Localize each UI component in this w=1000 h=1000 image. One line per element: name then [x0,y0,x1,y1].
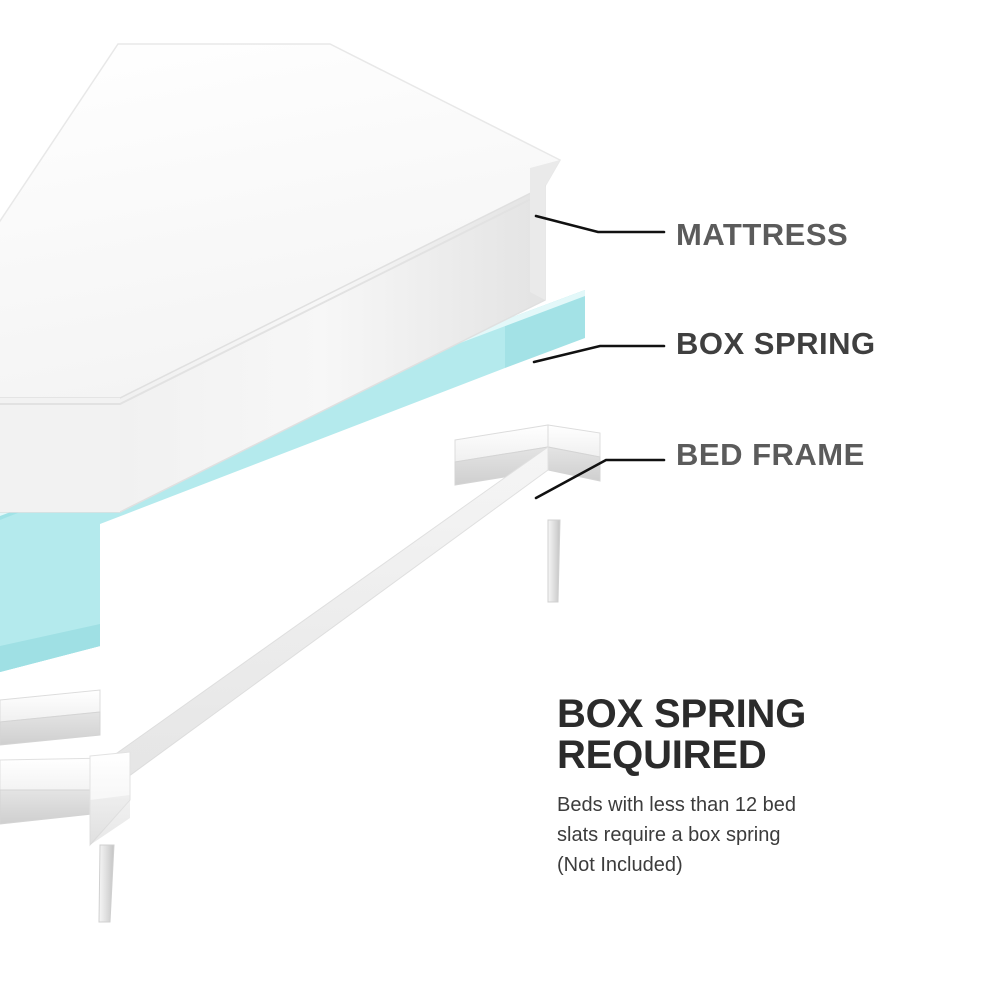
leader-line-mattress [536,216,664,232]
callout-body-line-3: (Not Included) [557,850,977,880]
label-box-spring: BOX SPRING [676,326,876,362]
box-spring-required-callout: BOX SPRING REQUIRED Beds with less than … [557,694,977,880]
label-bed-frame: BED FRAME [676,437,865,473]
callout-title: BOX SPRING REQUIRED [557,694,977,776]
callout-body: Beds with less than 12 bed slats require… [557,790,977,880]
callout-title-line-1: BOX SPRING [557,694,977,735]
callout-title-line-2: REQUIRED [557,735,977,776]
label-mattress: MATTRESS [676,217,848,253]
callout-body-line-2: slats require a box spring [557,820,977,850]
callout-body-line-1: Beds with less than 12 bed [557,790,977,820]
product-diagram: MATTRESS BOX SPRING BED FRAME BOX SPRING… [0,0,1000,1000]
